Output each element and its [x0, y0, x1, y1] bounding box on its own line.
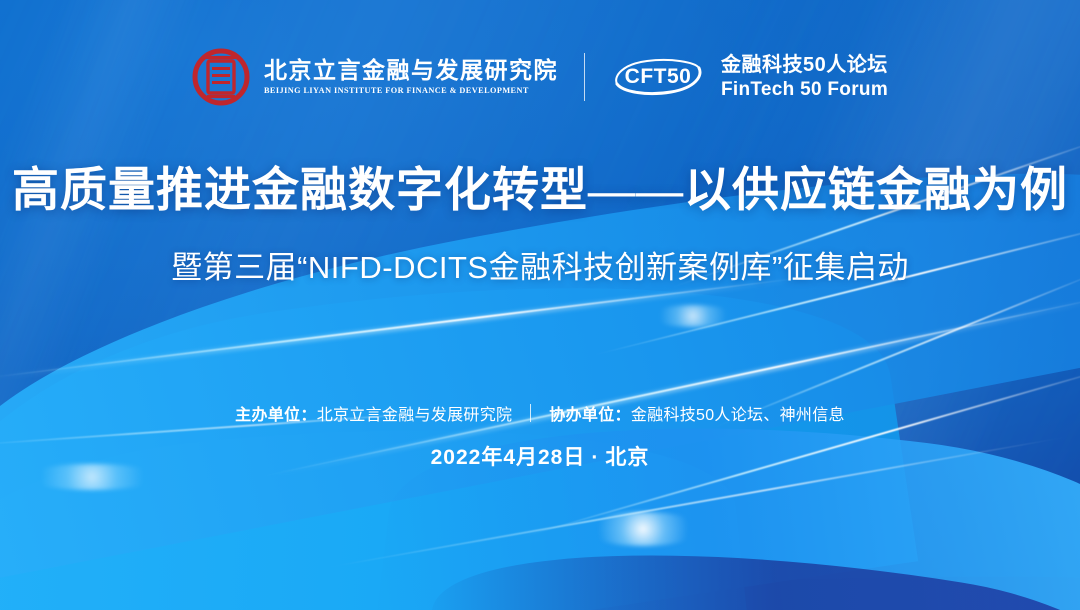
event-separator: · — [585, 446, 605, 469]
liyan-name-en: BEIJING LIYAN INSTITUTE FOR FINANCE & DE… — [264, 86, 549, 95]
cft50-logo: CFT50 金融科技50人论坛 FinTech 50 Forum — [611, 54, 888, 101]
liyan-logo-text: 北京立言金融与发展研究院 BEIJING LIYAN INSTITUTE FOR… — [264, 59, 558, 95]
svg-text:CFT50: CFT50 — [625, 65, 692, 88]
liyan-name-cn: 北京立言金融与发展研究院 — [264, 59, 558, 83]
co-organizer-value: 金融科技50人论坛、神州信息 — [631, 407, 845, 424]
conference-banner: 北京立言金融与发展研究院 BEIJING LIYAN INSTITUTE FOR… — [0, 0, 1080, 610]
event-date: 2022年4月28日 — [431, 446, 586, 469]
logo-divider — [584, 53, 585, 101]
host-organizer: 主办单位：北京立言金融与发展研究院 — [235, 401, 512, 425]
co-organizer: 协办单位：金融科技50人论坛、神州信息 — [549, 401, 845, 425]
host-organizer-label: 主办单位： — [235, 407, 317, 424]
sub-title: 暨第三届“NIFD-DCITS金融科技创新案例库”征集启动 — [0, 249, 1080, 286]
event-date-location: 2022年4月28日·北京 — [0, 441, 1080, 471]
cft50-logo-text: 金融科技50人论坛 FinTech 50 Forum — [721, 54, 888, 101]
main-title: 高质量推进金融数字化转型——以供应链金融为例 — [0, 166, 1080, 218]
host-organizer-value: 北京立言金融与发展研究院 — [317, 407, 513, 424]
cft50-ellipse-icon: CFT50 — [611, 54, 707, 100]
organizer-row: 主办单位：北京立言金融与发展研究院 协办单位：金融科技50人论坛、神州信息 — [0, 401, 1080, 425]
co-organizer-label: 协办单位： — [549, 407, 631, 424]
logo-row: 北京立言金融与发展研究院 BEIJING LIYAN INSTITUTE FOR… — [0, 48, 1080, 106]
event-location: 北京 — [605, 446, 649, 469]
liyan-logo: 北京立言金融与发展研究院 BEIJING LIYAN INSTITUTE FOR… — [192, 48, 558, 106]
cft50-name-cn: 金融科技50人论坛 — [721, 54, 888, 77]
liyan-institute-seal-icon — [192, 48, 250, 106]
cft50-name-en: FinTech 50 Forum — [721, 79, 888, 101]
banner-content: 北京立言金融与发展研究院 BEIJING LIYAN INSTITUTE FOR… — [0, 0, 1080, 610]
organizer-divider — [530, 404, 531, 422]
